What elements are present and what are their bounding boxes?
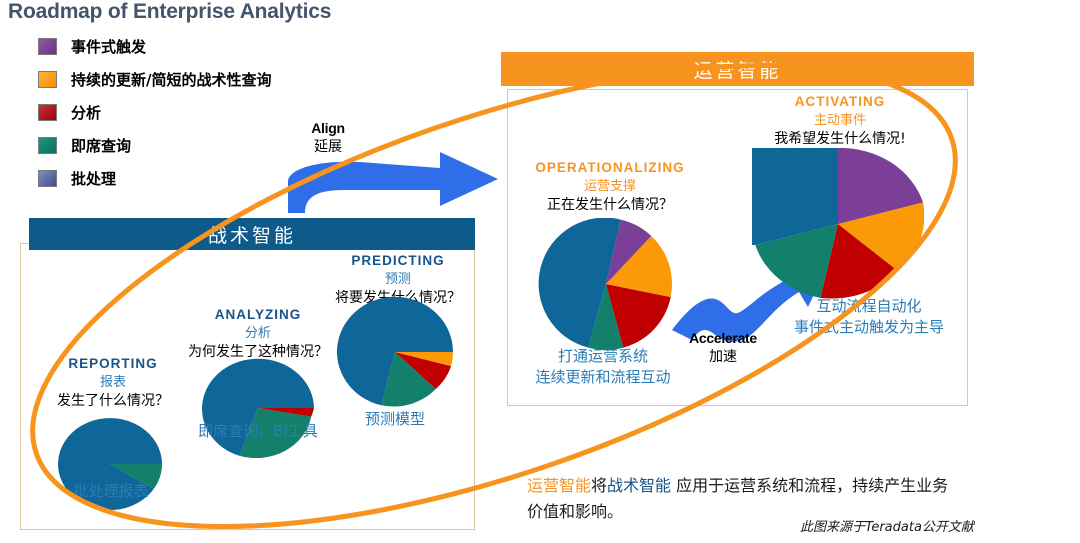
pie-caption-activating-line2: 事件式主动触发为主导: [760, 316, 978, 337]
stage-activating-question: 我希望发生什么情况!: [740, 128, 940, 148]
operational-panel-header: 运营智能: [501, 52, 974, 86]
tactical-panel-header: 战术智能: [29, 218, 475, 250]
align-arrow-label: Align 延展: [288, 120, 368, 156]
tactical-panel-title: 战术智能: [208, 221, 296, 248]
summary-segment-tactical: 战术智能: [607, 476, 671, 495]
swatch-purple-icon: [38, 38, 57, 55]
pie-chart-predictive-model: [337, 297, 453, 407]
legend-item: 批处理: [38, 165, 271, 192]
stage-analyzing-text: ANALYZING 分析 为何发生了这种情况？: [160, 307, 356, 361]
source-note: 此图来源于Teradata公开文献: [800, 516, 974, 535]
swatch-teal-icon: [38, 137, 57, 154]
summary-segment-link: 将: [591, 476, 607, 495]
stage-reporting-text: REPORTING 报表 发生了什么情况？: [18, 356, 208, 410]
legend-item-label: 批处理: [71, 168, 116, 189]
stage-analyzing-cn: 分析: [160, 322, 356, 341]
stage-activating-text: ACTIVATING 主动事件 我希望发生什么情况!: [740, 94, 940, 148]
pie-caption-predictive-model: 预测模型: [345, 408, 445, 429]
stage-activating-en: ACTIVATING: [740, 94, 940, 109]
pie-caption-activating-line1: 互动流程自动化: [760, 295, 978, 316]
swatch-blue-icon: [38, 170, 57, 187]
stage-operationalizing-text: OPERATIONALIZING 运营支撑 正在发生什么情况？: [505, 160, 715, 214]
pie-caption-batch-reporting: 批处理报表: [48, 480, 174, 501]
stage-reporting-question: 发生了什么情况？: [18, 390, 208, 410]
legend-item: 事件式触发: [38, 33, 271, 60]
pie-caption-activating: 互动流程自动化 事件式主动触发为主导: [760, 295, 978, 337]
pie-caption-operationalizing: 打通运营系统 连续更新和流程互动: [505, 345, 701, 387]
align-label-cn: 延展: [288, 136, 368, 156]
stage-operationalizing-cn: 运营支撑: [505, 175, 715, 194]
pie-chart-adhoc-bi: [202, 358, 314, 458]
stage-analyzing-en: ANALYZING: [160, 307, 356, 322]
right-arrow-icon: [288, 152, 498, 213]
pie-caption-adhoc-bi: 即席查询、BI工具: [180, 420, 336, 441]
legend-item: 持续的更新/简短的战术性查询: [38, 66, 271, 93]
legend-item: 分析: [38, 99, 271, 126]
legend-item: 即席查询: [38, 132, 271, 159]
legend-item-label: 持续的更新/简短的战术性查询: [71, 69, 271, 90]
stage-operationalizing-question: 正在发生什么情况？: [505, 194, 715, 214]
pie-caption-operationalizing-line2: 连续更新和流程互动: [505, 366, 701, 387]
slide-canvas: Roadmap of Enterprise Analytics 事件式触发 持续…: [0, 0, 1080, 543]
page-title: Roadmap of Enterprise Analytics: [8, 0, 331, 24]
stage-operationalizing-en: OPERATIONALIZING: [505, 160, 715, 175]
legend-item-label: 即席查询: [71, 135, 131, 156]
operational-panel-title: 运营智能: [693, 56, 781, 83]
stage-reporting-cn: 报表: [18, 371, 208, 390]
stage-predicting-cn: 预测: [318, 268, 478, 287]
legend-item-label: 事件式触发: [71, 36, 146, 57]
align-label-en: Align: [288, 120, 368, 136]
legend: 事件式触发 持续的更新/简短的战术性查询 分析 即席查询 批处理: [38, 33, 271, 198]
legend-item-label: 分析: [71, 102, 101, 123]
summary-segment-operational: 运营智能: [527, 476, 591, 495]
stage-activating-cn: 主动事件: [740, 109, 940, 128]
pie-chart-activating: [752, 148, 924, 300]
pie-caption-operationalizing-line1: 打通运营系统: [505, 345, 701, 366]
pie-chart-operationalizing: [533, 218, 679, 350]
swatch-orange-icon: [38, 71, 57, 88]
swatch-red-icon: [38, 104, 57, 121]
stage-predicting-en: PREDICTING: [318, 253, 478, 268]
